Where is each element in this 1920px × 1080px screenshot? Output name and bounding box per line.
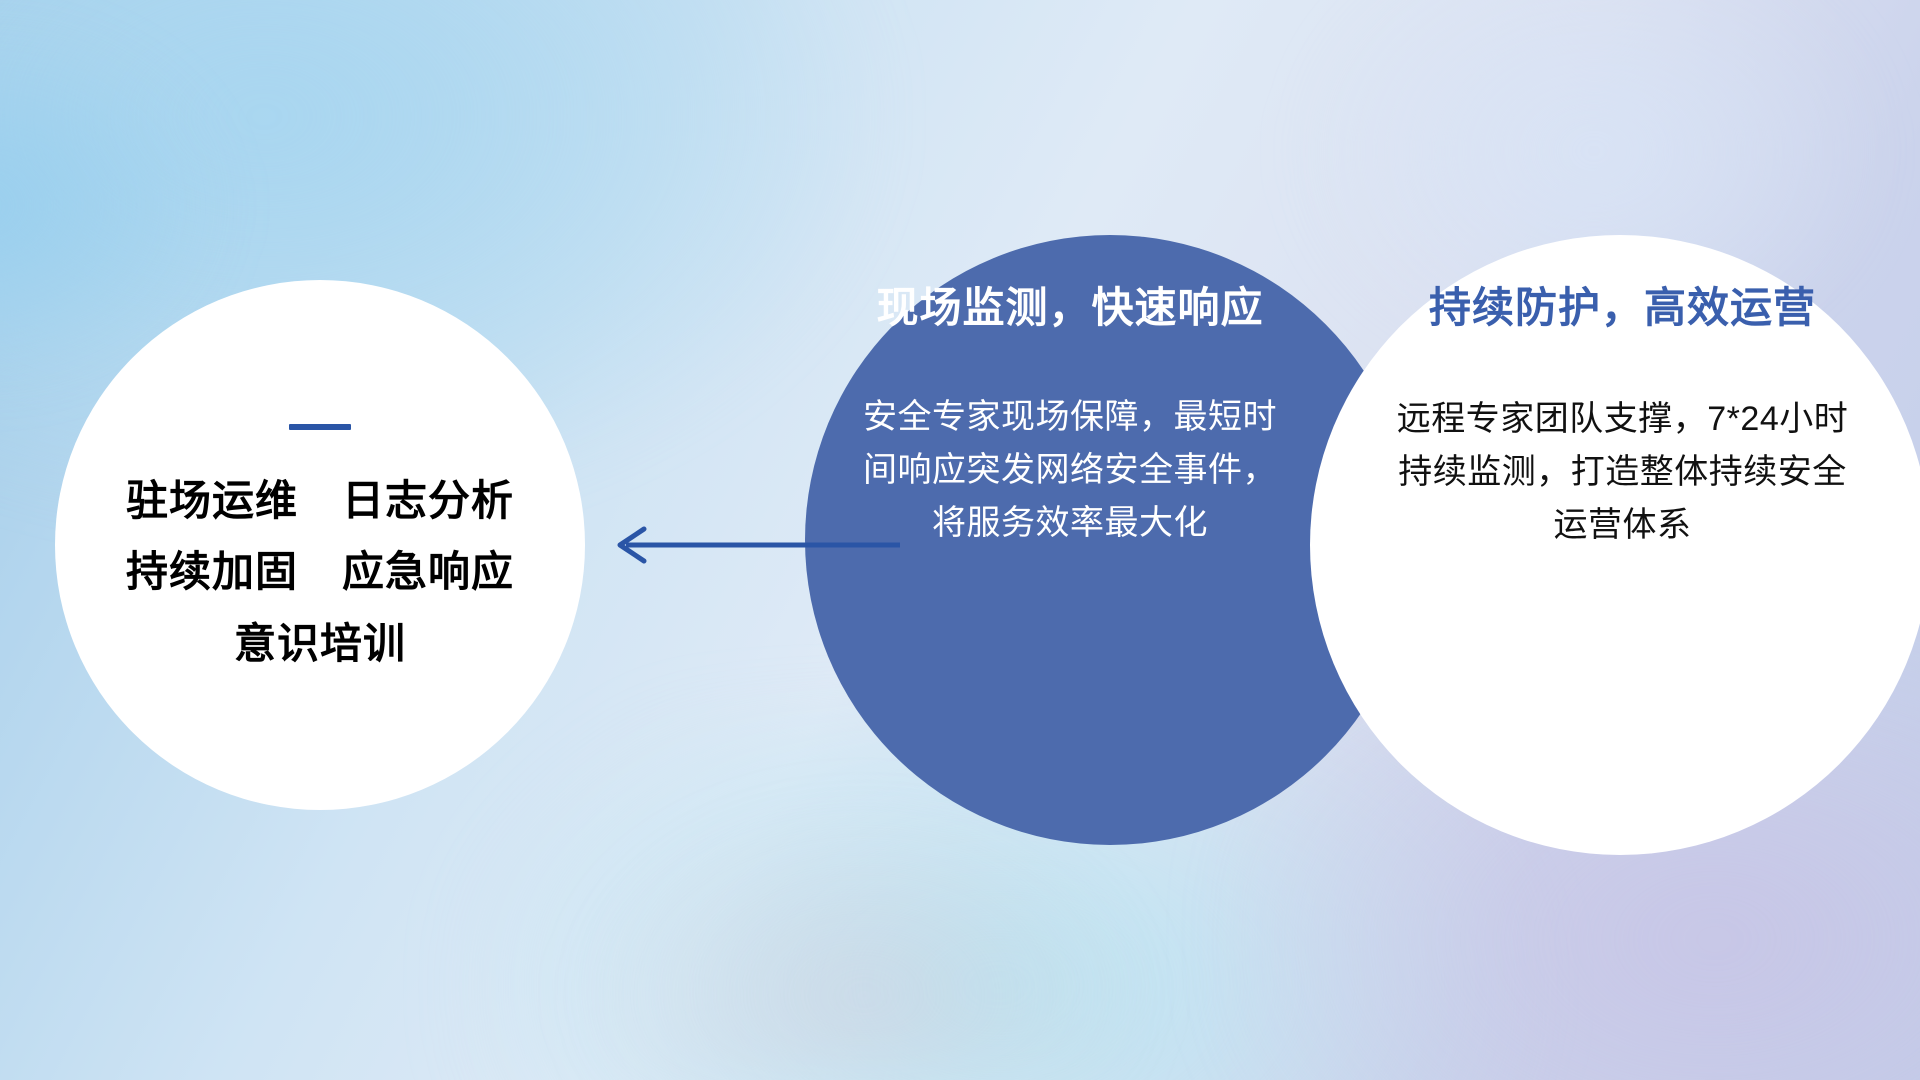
- left-arrow-icon: [600, 510, 900, 580]
- capability-item: 意识培训: [234, 621, 406, 666]
- divider-dash-icon: [289, 424, 351, 430]
- slide-canvas: 驻场运维 日志分析 持续加固 应急响应 意识培训 现场监测，快速响应 安全专家现…: [0, 0, 1920, 1080]
- continuous-protection-body: 远程专家团队支撑，7*24小时持续监测，打造整体持续安全运营体系: [1395, 393, 1850, 551]
- capabilities-circle[interactable]: 驻场运维 日志分析 持续加固 应急响应 意识培训: [55, 280, 585, 810]
- onsite-monitoring-body: 安全专家现场保障，最短时间响应突发网络安全事件，将服务效率最大化: [855, 391, 1285, 549]
- capabilities-row-1: 驻场运维 日志分析: [126, 478, 514, 523]
- capability-item: 驻场运维: [126, 478, 298, 523]
- continuous-protection-title: 持续防护，高效运营: [1395, 285, 1850, 331]
- onsite-monitoring-content: 现场监测，快速响应 安全专家现场保障，最短时间响应突发网络安全事件，将服务效率最…: [855, 285, 1285, 549]
- capability-item: 应急响应: [342, 549, 514, 594]
- capabilities-list: 驻场运维 日志分析 持续加固 应急响应 意识培训: [126, 478, 514, 666]
- capabilities-row-3: 意识培训: [234, 621, 406, 666]
- capability-item: 持续加固: [126, 549, 298, 594]
- onsite-monitoring-title: 现场监测，快速响应: [855, 285, 1285, 331]
- continuous-protection-content: 持续防护，高效运营 远程专家团队支撑，7*24小时持续监测，打造整体持续安全运营…: [1395, 285, 1850, 551]
- capability-item: 日志分析: [342, 478, 514, 523]
- capabilities-row-2: 持续加固 应急响应: [126, 549, 514, 594]
